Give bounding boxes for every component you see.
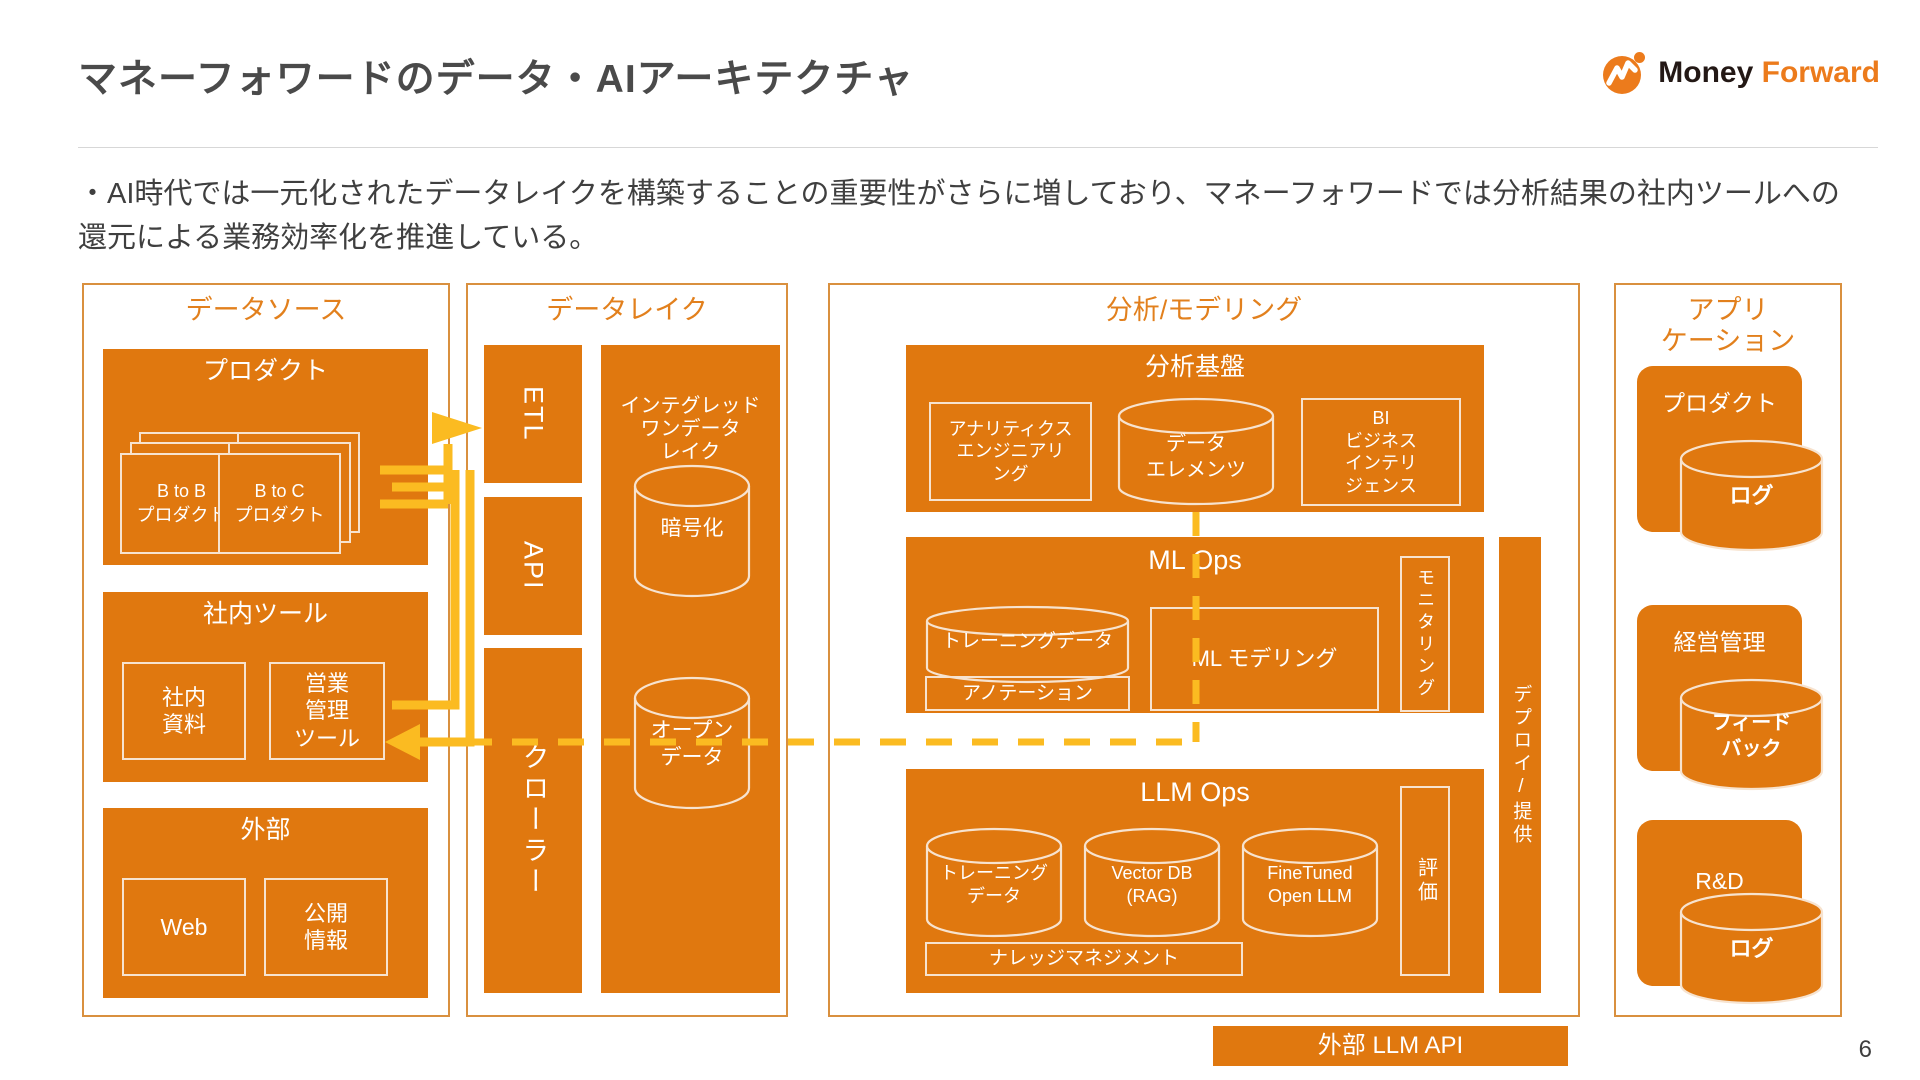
group-internal-tools-title: 社内ツール [103, 600, 428, 629]
cylinder-feedback[interactable]: フィード バック [1679, 679, 1824, 792]
block-analysis-platform-title: 分析基盤 [906, 353, 1484, 382]
box-web[interactable]: Web [122, 878, 246, 976]
panel-application-title: アプリ ケーション [1616, 295, 1840, 358]
box-internal-docs[interactable]: 社内 資料 [122, 662, 246, 760]
box-knowledge-management[interactable]: ナレッジマネジメント [925, 942, 1243, 976]
cylinder-ml-training-data-label: トレーニングデータ [925, 630, 1130, 654]
cylinder-open-data-label: オープン データ [633, 718, 751, 772]
cylinder-ml-training-data[interactable]: トレーニングデータ [925, 606, 1130, 687]
card-btoc-product[interactable]: B to C プロダクト [218, 453, 341, 554]
bar-external-llm-api[interactable]: 外部 LLM API [1213, 1026, 1568, 1066]
cylinder-finetuned-open-llm[interactable]: FineTuned Open LLM [1241, 828, 1379, 938]
panel-data-lake-title: データレイク [468, 295, 786, 326]
block-integrated-one-data-lake: インテグレッド ワンデータ レイク [601, 345, 780, 993]
architecture-diagram: データソース プロダクト B to B プロダクト B to C プロダクト 社… [0, 0, 1920, 1080]
cylinder-finetuned-open-llm-label: FineTuned Open LLM [1241, 862, 1379, 908]
box-annotation[interactable]: アノテーション [925, 676, 1130, 711]
app-card-product-label: プロダクト [1637, 384, 1802, 418]
slide-page: マネーフォワードのデータ・AIアーキテクチャ Money Forward ・AI… [0, 0, 1920, 1080]
group-external-title: 外部 [103, 816, 428, 845]
pipe-crawler[interactable]: クローラー [484, 648, 582, 993]
app-card-management-label: 経営管理 [1637, 623, 1802, 657]
box-sales-mgmt-tool[interactable]: 営業 管理 ツール [269, 662, 385, 760]
app-card-rnd-label: R&D [1637, 868, 1802, 895]
cylinder-feedback-label: フィード バック [1679, 711, 1824, 762]
panel-analysis-title: 分析/モデリング [830, 295, 1578, 326]
cylinder-data-elements[interactable]: データ エレメンツ [1117, 398, 1275, 506]
cylinder-data-elements-label: データ エレメンツ [1117, 432, 1275, 483]
block-ml-ops-title: ML Ops [906, 545, 1484, 576]
box-monitoring[interactable]: モニタリング [1400, 556, 1450, 712]
pipe-etl[interactable]: ETL [484, 345, 582, 483]
box-analytics-engineering[interactable]: アナリティクス エンジニアリ ング [929, 402, 1092, 501]
panel-data-source-title: データソース [84, 295, 448, 326]
cylinder-rnd-log-label: ログ [1679, 935, 1824, 963]
pipe-api[interactable]: API [484, 497, 582, 635]
cylinder-encryption[interactable]: 暗号化 [633, 464, 751, 598]
cylinder-llm-training-data-label: トレーニング データ [925, 862, 1063, 908]
block-integrated-lake-title: インテグレッド ワンデータ レイク [601, 395, 780, 463]
cylinder-open-data[interactable]: オープン データ [633, 676, 751, 810]
card-stack-btoc: B to C プロダクト [218, 432, 360, 552]
cylinder-vector-db[interactable]: Vector DB (RAG) [1083, 828, 1221, 938]
block-llm-ops-title: LLM Ops [906, 777, 1484, 808]
page-number: 6 [1859, 1036, 1872, 1064]
cylinder-llm-training-data[interactable]: トレーニング データ [925, 828, 1063, 938]
bar-deploy-provide: デプロイ/提供 [1499, 537, 1541, 993]
cylinder-rnd-log[interactable]: ログ [1679, 893, 1824, 1006]
cylinder-encryption-label: 暗号化 [633, 516, 751, 543]
cylinder-product-log-label: ログ [1679, 482, 1824, 510]
box-public-info[interactable]: 公開 情報 [264, 878, 388, 976]
cylinder-vector-db-label: Vector DB (RAG) [1083, 862, 1221, 908]
box-ml-modeling[interactable]: ML モデリング [1150, 607, 1379, 711]
cylinder-product-log[interactable]: ログ [1679, 440, 1824, 553]
box-bi[interactable]: BI ビジネス インテリ ジェンス [1301, 398, 1461, 506]
group-product-title: プロダクト [103, 357, 428, 386]
box-evaluation[interactable]: 評価 [1400, 786, 1450, 976]
